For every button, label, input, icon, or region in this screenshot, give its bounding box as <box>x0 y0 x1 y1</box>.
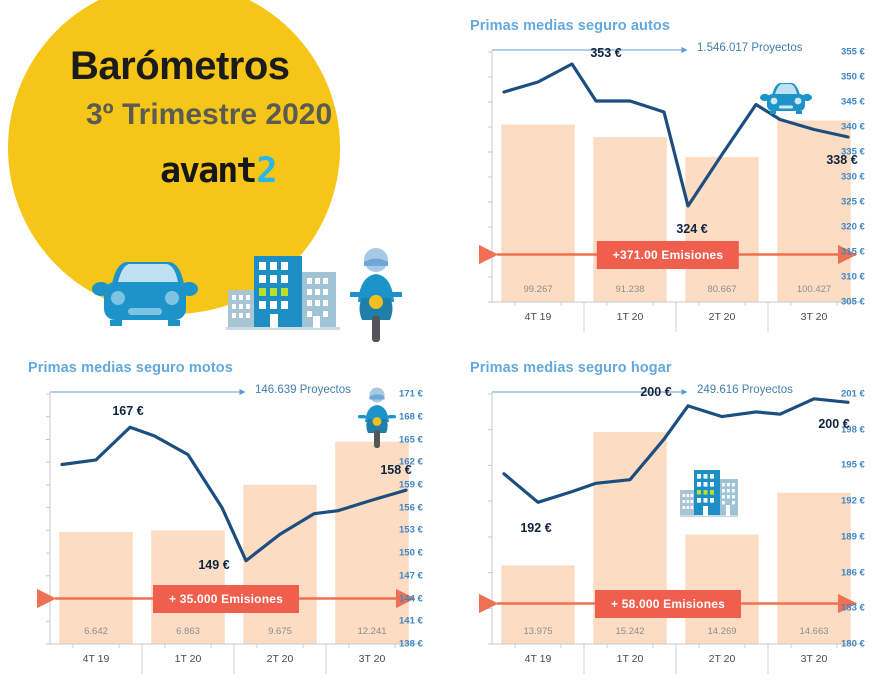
y-tick-label: 350 € <box>841 72 878 83</box>
x-tick-label: 2T 20 <box>709 311 736 323</box>
car-icon <box>758 78 814 118</box>
bar-2T20 <box>243 485 317 644</box>
data-point-label: 324 € <box>676 222 707 236</box>
y-tick-label: 201 € <box>841 389 878 400</box>
car-icon <box>758 78 814 123</box>
bar-value-label: 13.975 <box>523 626 552 637</box>
bar-1T20 <box>593 137 667 302</box>
scooter-icon <box>354 386 400 448</box>
y-tick-label: 180 € <box>841 639 878 650</box>
y-tick-label: 156 € <box>399 502 436 513</box>
hero-panel: Barómetros 3º Trimestre 2020 avant 2 <box>0 0 440 350</box>
proyectos-label: 1.546.017 Proyectos <box>697 42 803 54</box>
y-tick-label: 192 € <box>841 496 878 507</box>
bar-value-label: 9.675 <box>268 626 292 637</box>
y-tick-label: 153 € <box>399 525 436 536</box>
y-tick-label: 186 € <box>841 567 878 578</box>
chart-canvas-hogar <box>448 360 878 690</box>
bar-4T19 <box>501 125 575 303</box>
data-point-label: 149 € <box>198 558 229 572</box>
y-tick-label: 150 € <box>399 548 436 559</box>
y-tick-label: 310 € <box>841 272 878 283</box>
y-tick-label: 147 € <box>399 570 436 581</box>
proyectos-label: 249.616 Proyectos <box>697 384 793 396</box>
data-point-label: 200 € <box>640 385 671 399</box>
x-tick-label: 1T 20 <box>617 311 644 323</box>
x-tick-label: 3T 20 <box>359 653 386 665</box>
emisiones-badge: + 58.000 Emisiones <box>595 590 741 618</box>
y-tick-label: 330 € <box>841 172 878 183</box>
bar-3T20 <box>777 493 851 644</box>
y-tick-label: 340 € <box>841 122 878 133</box>
y-tick-label: 138 € <box>399 639 436 650</box>
data-point-label: 158 € <box>380 463 411 477</box>
chart-panel-motos: Primas medias seguro motos 138 €141 €144… <box>6 360 436 690</box>
bar-3T20 <box>777 121 851 303</box>
x-tick-label: 4T 19 <box>83 653 110 665</box>
y-tick-label: 171 € <box>399 389 436 400</box>
bar-value-label: 80.667 <box>707 284 736 295</box>
page-title: Barómetros <box>70 46 400 86</box>
bar-value-label: 12.241 <box>357 626 386 637</box>
y-tick-label: 141 € <box>399 616 436 627</box>
x-tick-label: 3T 20 <box>801 653 828 665</box>
bar-value-label: 14.269 <box>707 626 736 637</box>
scooter-icon <box>354 386 400 453</box>
infographic-page: Barómetros 3º Trimestre 2020 avant 2 <box>0 0 880 690</box>
emisiones-badge: +371.00 Emisiones <box>597 241 739 269</box>
line-series-hogar <box>504 399 848 503</box>
y-tick-label: 189 € <box>841 531 878 542</box>
bar-value-label: 91.238 <box>615 284 644 295</box>
avant2-logo: avant 2 <box>160 150 276 192</box>
bar-value-label: 6.863 <box>176 626 200 637</box>
buildings-icon <box>680 468 738 523</box>
proyectos-label: 146.639 Proyectos <box>255 384 351 396</box>
bar-value-label: 99.267 <box>523 284 552 295</box>
bar-value-label: 6.642 <box>84 626 108 637</box>
y-tick-label: 183 € <box>841 603 878 614</box>
car-icon <box>92 262 198 326</box>
scooter-icon <box>350 248 402 342</box>
y-tick-label: 168 € <box>399 411 436 422</box>
y-tick-label: 144 € <box>399 593 436 604</box>
chart-canvas-autos <box>448 18 878 358</box>
hero-illustration <box>0 228 440 343</box>
x-tick-label: 4T 19 <box>525 653 552 665</box>
y-tick-label: 165 € <box>399 434 436 445</box>
bar-value-label: 15.242 <box>615 626 644 637</box>
buildings-icon <box>680 468 738 518</box>
y-tick-label: 195 € <box>841 460 878 471</box>
y-tick-label: 159 € <box>399 479 436 490</box>
emisiones-badge: + 35.000 Emisiones <box>153 585 299 613</box>
data-point-label: 338 € <box>826 153 857 167</box>
bar-value-label: 14.663 <box>799 626 828 637</box>
y-tick-label: 325 € <box>841 197 878 208</box>
x-tick-label: 1T 20 <box>175 653 202 665</box>
logo-wordmark: avant <box>160 151 255 191</box>
x-tick-label: 1T 20 <box>617 653 644 665</box>
y-tick-label: 305 € <box>841 297 878 308</box>
data-point-label: 192 € <box>520 521 551 535</box>
logo-accent-mark: 2 <box>256 151 276 191</box>
page-subtitle: 3º Trimestre 2020 <box>86 100 416 130</box>
y-tick-label: 320 € <box>841 222 878 233</box>
y-tick-label: 345 € <box>841 97 878 108</box>
data-point-label: 167 € <box>112 404 143 418</box>
buildings-icon <box>226 256 340 330</box>
data-point-label: 353 € <box>590 46 621 60</box>
x-tick-label: 2T 20 <box>709 653 736 665</box>
chart-panel-hogar: Primas medias seguro hogar 180 €183 €186… <box>448 360 878 690</box>
y-tick-label: 315 € <box>841 247 878 258</box>
x-tick-label: 3T 20 <box>801 311 828 323</box>
data-point-label: 200 € <box>818 417 849 431</box>
x-tick-label: 2T 20 <box>267 653 294 665</box>
bar-value-label: 100.427 <box>797 284 831 295</box>
x-tick-label: 4T 19 <box>525 311 552 323</box>
chart-panel-autos: Primas medias seguro autos 305 €310 €315… <box>448 18 878 358</box>
y-tick-label: 355 € <box>841 47 878 58</box>
